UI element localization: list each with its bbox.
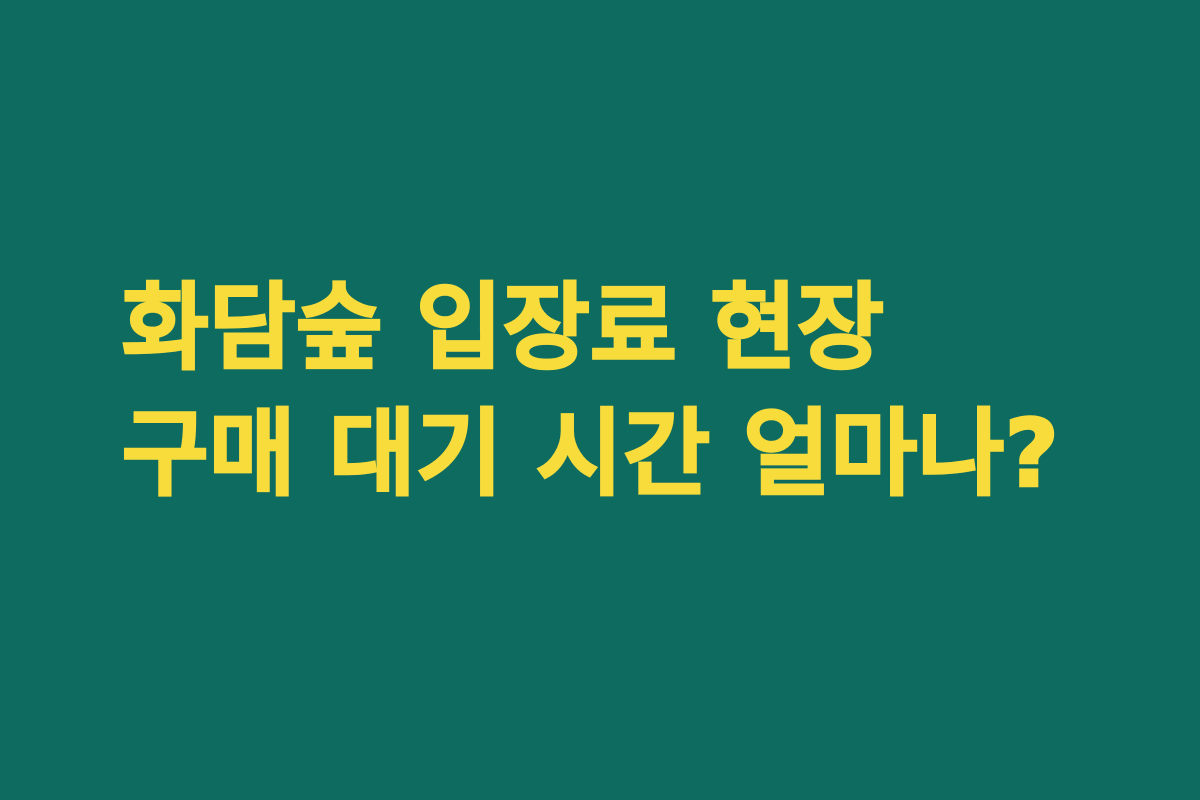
headline-block: 화담숲 입장료 현장 구매 대기 시간 얼마나? — [0, 266, 1200, 518]
thumbnail-card: 화담숲 입장료 현장 구매 대기 시간 얼마나? — [0, 0, 1200, 800]
headline-text: 화담숲 입장료 현장 구매 대기 시간 얼마나? — [122, 266, 1090, 518]
